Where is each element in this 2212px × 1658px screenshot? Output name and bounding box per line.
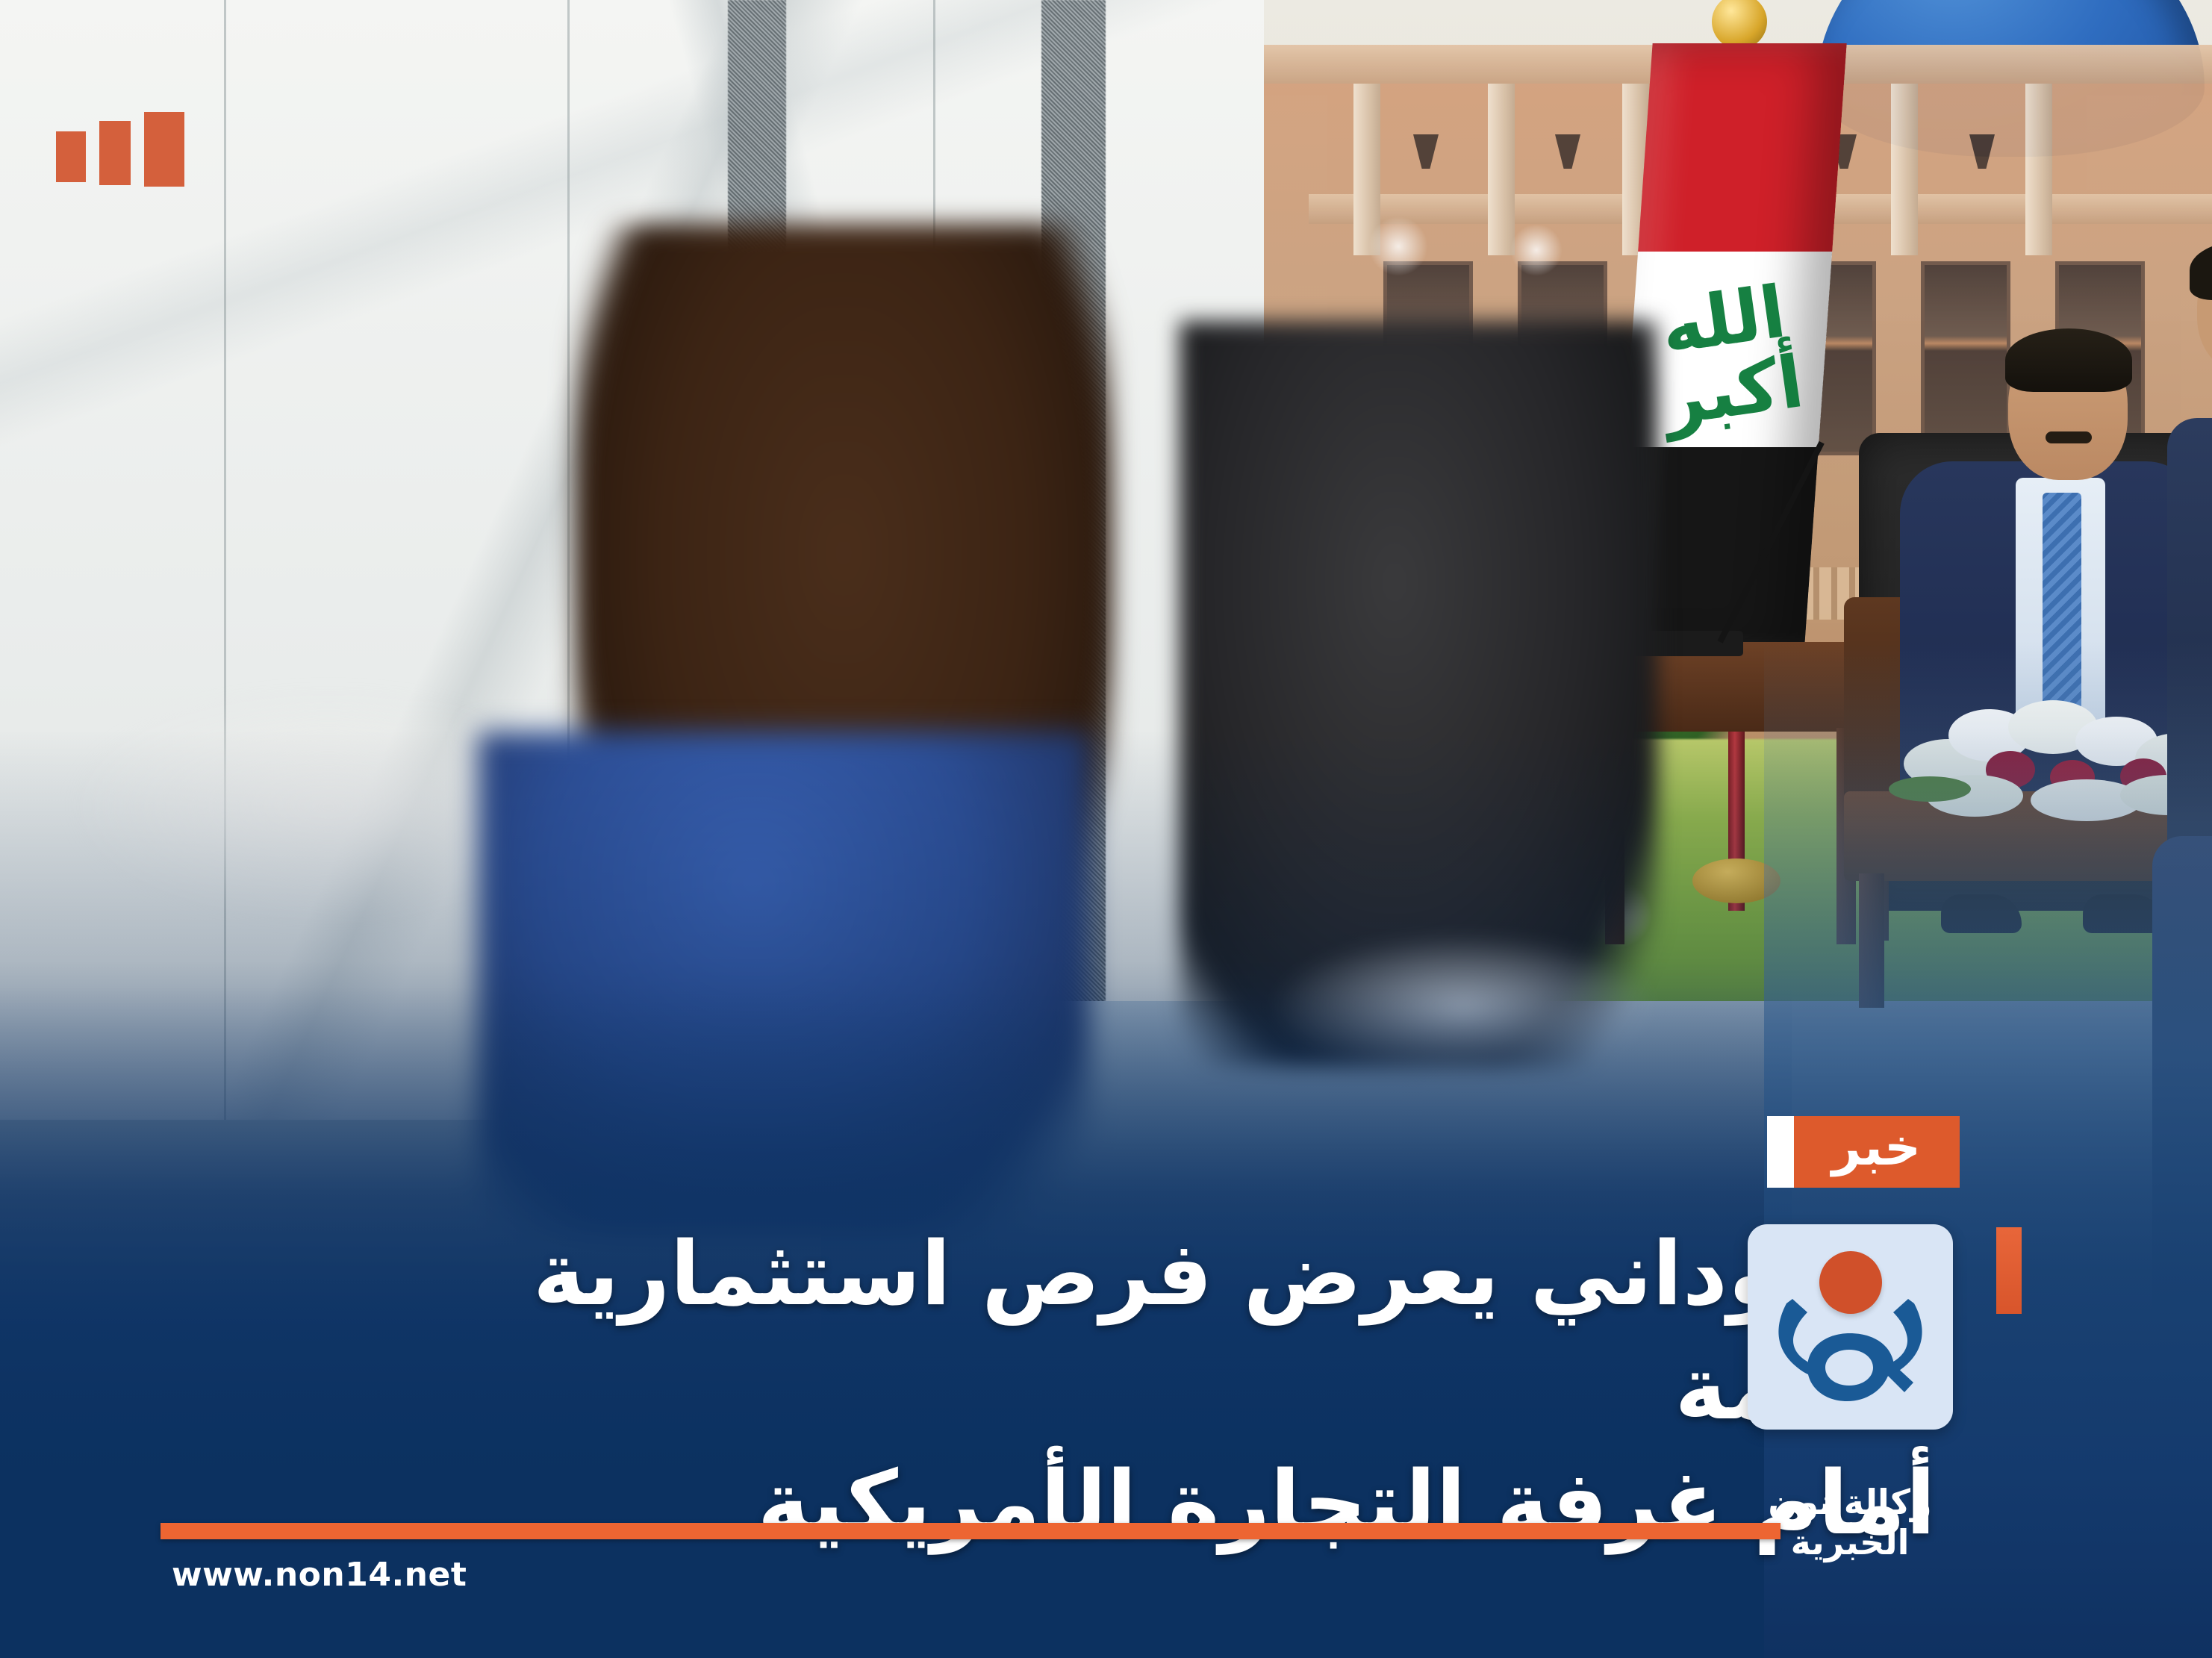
white-tick-bar-icon (1767, 1116, 1794, 1188)
three-bars-logo-icon[interactable] (56, 112, 184, 187)
logo-noon-glyph-icon (1748, 1224, 1953, 1430)
logo-bar-3 (56, 131, 86, 182)
status-badge: خبر (1767, 1116, 1960, 1188)
agency-name: وكالة نون الخبرية (1712, 1482, 1988, 1562)
headline-line-1: السوداني يعرض فرص استثمارية ضخمة (398, 1217, 1936, 1446)
noon-agency-monogram-icon[interactable] (1748, 1224, 1953, 1430)
logo-bar-2 (99, 121, 131, 185)
orange-accent-bar-icon (1996, 1227, 2022, 1314)
headline-block: السوداني يعرض فرص استثمارية ضخمة أمام غر… (398, 1217, 1936, 1560)
news-card: الله أكبر (0, 0, 2212, 1658)
status-badge-label: خبر (1793, 1116, 1960, 1188)
headline-line-2: أمام غرفة التجارة الأمريكية (398, 1446, 1936, 1560)
logo-bar-1 (144, 112, 184, 187)
site-url[interactable]: www.non14.net (172, 1556, 467, 1594)
orange-divider-line-icon (161, 1523, 1780, 1539)
